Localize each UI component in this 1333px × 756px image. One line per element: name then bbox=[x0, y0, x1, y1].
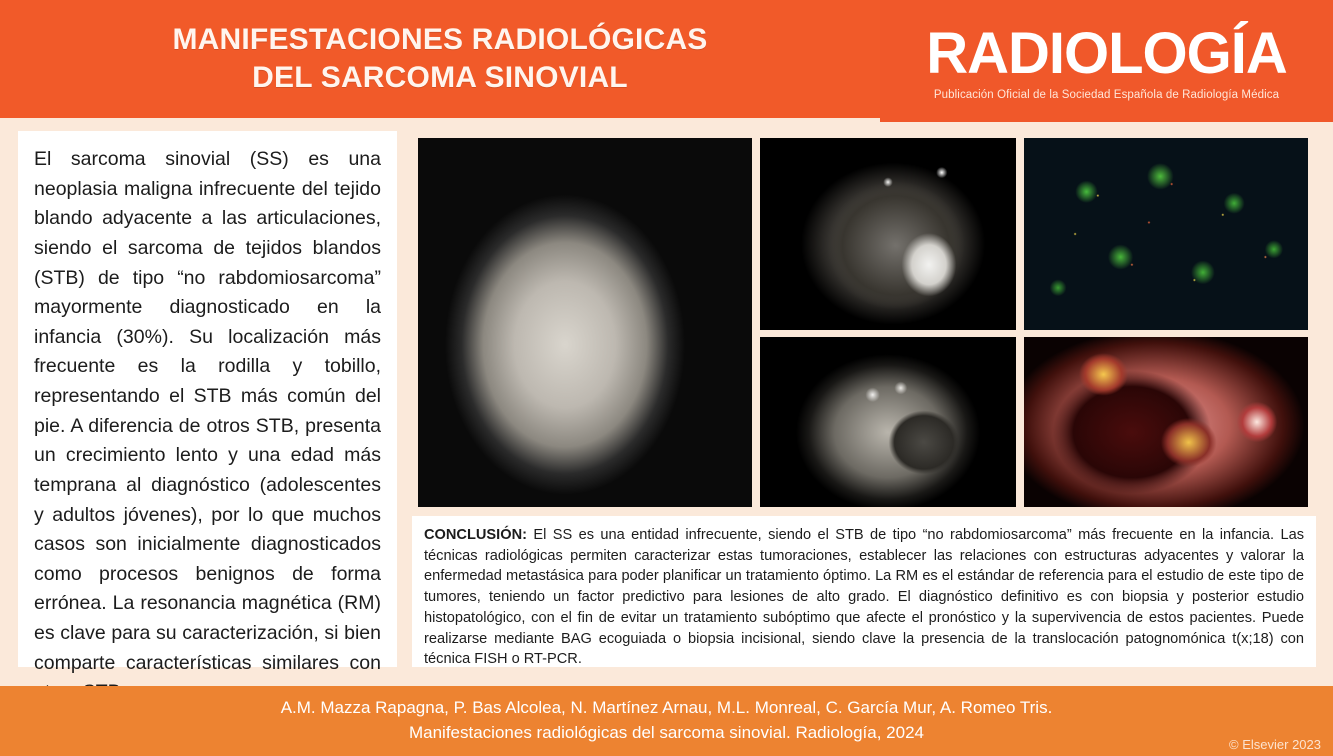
mri-axial-t1-image bbox=[760, 337, 1016, 507]
figure-mri-axial-t2-fatsat bbox=[760, 138, 1016, 330]
mri-axial-t2-image bbox=[760, 138, 1016, 330]
journal-logo-wordmark: RADIOLOGÍA bbox=[926, 25, 1287, 83]
poster-root: MANIFESTACIONES RADIOLÓGICAS DEL SARCOMA… bbox=[0, 0, 1333, 756]
page-title-line-2: DEL SARCOMA SINOVIAL bbox=[252, 61, 628, 94]
figure-pet-ct-fusion bbox=[1024, 337, 1308, 507]
mri-sagittal-image bbox=[418, 138, 752, 507]
footer-authors: A.M. Mazza Rapagna, P. Bas Alcolea, N. M… bbox=[281, 696, 1053, 721]
poster-header: MANIFESTACIONES RADIOLÓGICAS DEL SARCOMA… bbox=[0, 0, 1333, 122]
header-title-block: MANIFESTACIONES RADIOLÓGICAS DEL SARCOMA… bbox=[0, 0, 880, 118]
figure-grid bbox=[406, 131, 1320, 514]
journal-logo: RADIOLOGÍA Publicación Oficial de la Soc… bbox=[880, 0, 1333, 122]
poster-footer: A.M. Mazza Rapagna, P. Bas Alcolea, N. M… bbox=[0, 686, 1333, 756]
conclusion-label: CONCLUSIÓN: bbox=[424, 527, 527, 543]
page-title: MANIFESTACIONES RADIOLÓGICAS DEL SARCOMA… bbox=[162, 21, 717, 98]
footer-citation: Manifestaciones radiológicas del sarcoma… bbox=[409, 721, 924, 746]
figure-fish-fluorescence bbox=[1024, 138, 1308, 330]
journal-logo-subtitle: Publicación Oficial de la Sociedad Españ… bbox=[934, 89, 1279, 101]
fish-fluorescence-image bbox=[1024, 138, 1308, 330]
figure-mri-sagittal-large bbox=[418, 138, 752, 507]
figure-mri-axial-t1 bbox=[760, 337, 1016, 507]
introduction-text: El sarcoma sinovial (SS) es una neoplasi… bbox=[34, 145, 381, 708]
conclusion-body: El SS es una entidad infrecuente, siendo… bbox=[424, 527, 1304, 667]
conclusion-panel: CONCLUSIÓN: El SS es una entidad infrecu… bbox=[412, 516, 1316, 667]
page-title-line-1: MANIFESTACIONES RADIOLÓGICAS bbox=[172, 23, 707, 56]
introduction-panel: El sarcoma sinovial (SS) es una neoplasi… bbox=[18, 131, 397, 667]
footer-copyright: © Elsevier 2023 bbox=[1229, 737, 1321, 752]
pet-ct-fusion-image bbox=[1024, 337, 1308, 507]
conclusion-paragraph: CONCLUSIÓN: El SS es una entidad infrecu… bbox=[424, 525, 1304, 670]
